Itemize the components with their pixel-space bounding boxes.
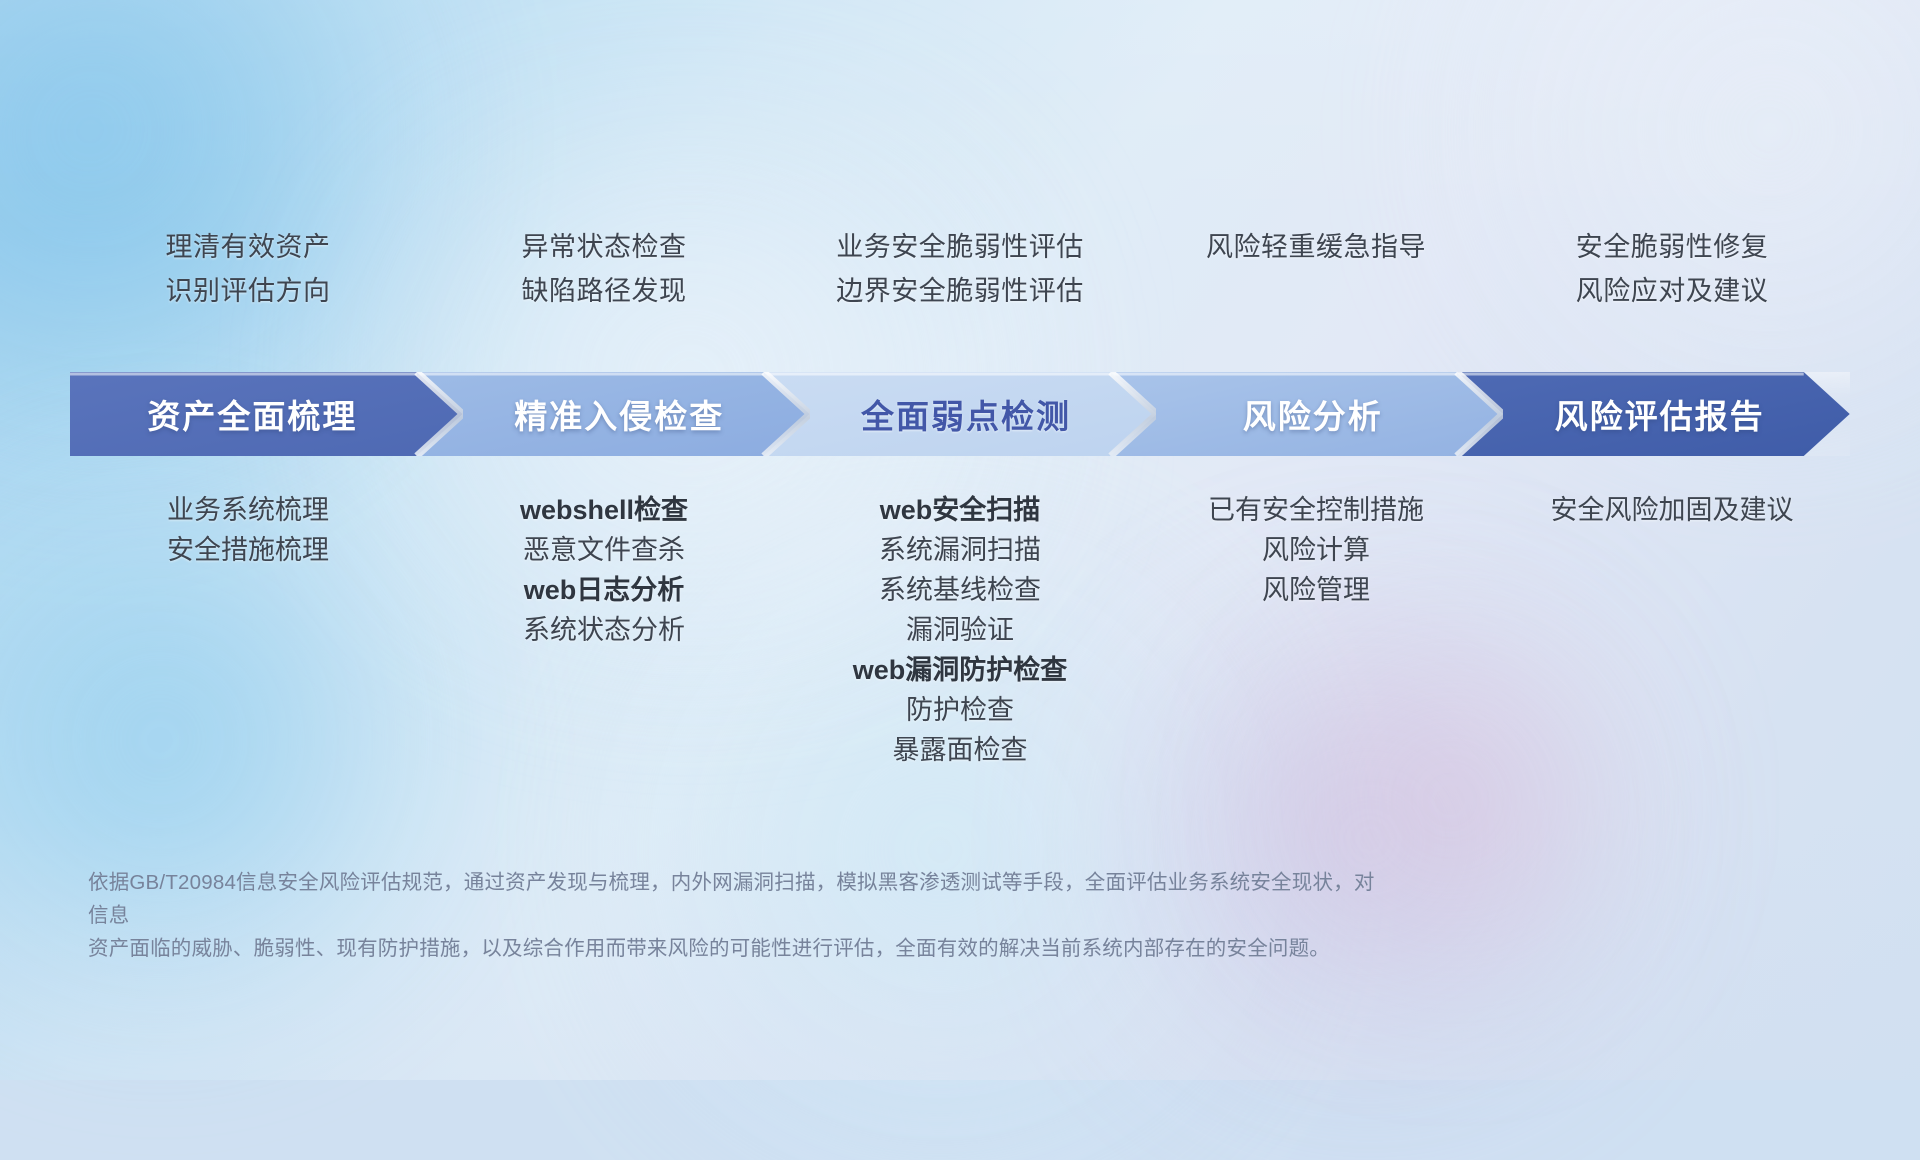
chevron-label-asset-inventory: 资产全面梳理 — [147, 390, 357, 438]
list-item: 风险计算 — [1138, 530, 1494, 570]
chevron-label-assessment-report: 风险评估报告 — [1555, 390, 1765, 438]
top-caption-intrusion-check: 异常状态检查缺陷路径发现 — [426, 225, 782, 313]
diagram-stage: 理清有效资产识别评估方向异常状态检查缺陷路径发现业务安全脆弱性评估边界安全脆弱性… — [0, 0, 1920, 1080]
chevron-stage-asset-inventory[interactable]: 资产全面梳理 — [70, 372, 463, 456]
top-captions-row: 理清有效资产识别评估方向异常状态检查缺陷路径发现业务安全脆弱性评估边界安全脆弱性… — [70, 225, 1850, 313]
bottom-list-weakness-detection: web安全扫描系统漏洞扫描系统基线检查漏洞验证web漏洞防护检查防护检查暴露面检… — [782, 490, 1138, 770]
chevron-label-intrusion-check: 精准入侵检查 — [514, 390, 724, 438]
top-caption-line: 边界安全脆弱性评估 — [782, 269, 1138, 313]
bottom-lists-row: 业务系统梳理安全措施梳理webshell检查恶意文件查杀web日志分析系统状态分… — [70, 490, 1850, 770]
footer-line-2: 资产面临的威胁、脆弱性、现有防护措施，以及综合作用而带来风险的可能性进行评估，全… — [88, 932, 1378, 965]
chevron-stage-risk-analysis[interactable]: 风险分析 — [1110, 372, 1503, 456]
top-caption-weakness-detection: 业务安全脆弱性评估边界安全脆弱性评估 — [782, 225, 1138, 313]
list-item: web日志分析 — [426, 570, 782, 610]
chevron-label-risk-analysis: 风险分析 — [1243, 390, 1383, 438]
footer-description: 依据GB/T20984信息安全风险评估规范，通过资产发现与梳理，内外网漏洞扫描，… — [88, 866, 1378, 965]
top-caption-line: 异常状态检查 — [426, 225, 782, 269]
list-item: 防护检查 — [782, 690, 1138, 730]
chevron-stage-intrusion-check[interactable]: 精准入侵检查 — [417, 372, 810, 456]
list-item: 系统基线检查 — [782, 570, 1138, 610]
chevron-stage-assessment-report[interactable]: 风险评估报告 — [1457, 372, 1850, 456]
list-item: 风险管理 — [1138, 570, 1494, 610]
top-caption-line: 风险应对及建议 — [1494, 269, 1850, 313]
top-caption-asset-inventory: 理清有效资产识别评估方向 — [70, 225, 426, 313]
list-item: web漏洞防护检查 — [782, 650, 1138, 690]
list-item: 恶意文件查杀 — [426, 530, 782, 570]
bottom-list-risk-analysis: 已有安全控制措施风险计算风险管理 — [1138, 490, 1494, 610]
top-caption-line: 理清有效资产 — [70, 225, 426, 269]
list-item: web安全扫描 — [782, 490, 1138, 530]
list-item: 系统状态分析 — [426, 610, 782, 650]
list-item: 安全风险加固及建议 — [1494, 490, 1850, 530]
list-item: 系统漏洞扫描 — [782, 530, 1138, 570]
list-item: webshell检查 — [426, 490, 782, 530]
top-caption-risk-analysis: 风险轻重缓急指导 — [1138, 225, 1494, 313]
list-item: 漏洞验证 — [782, 610, 1138, 650]
footer-line-1: 依据GB/T20984信息安全风险评估规范，通过资产发现与梳理，内外网漏洞扫描，… — [88, 866, 1378, 932]
top-caption-line: 缺陷路径发现 — [426, 269, 782, 313]
bottom-list-asset-inventory: 业务系统梳理安全措施梳理 — [70, 490, 426, 570]
bottom-list-intrusion-check: webshell检查恶意文件查杀web日志分析系统状态分析 — [426, 490, 782, 650]
bottom-list-assessment-report: 安全风险加固及建议 — [1494, 490, 1850, 530]
list-item: 业务系统梳理 — [70, 490, 426, 530]
top-caption-line: 识别评估方向 — [70, 269, 426, 313]
top-caption-assessment-report: 安全脆弱性修复风险应对及建议 — [1494, 225, 1850, 313]
list-item: 暴露面检查 — [782, 730, 1138, 770]
chevron-label-weakness-detection: 全面弱点检测 — [861, 390, 1071, 438]
process-chevron-band: 资产全面梳理精准入侵检查全面弱点检测风险分析风险评估报告 — [70, 372, 1850, 456]
list-item: 安全措施梳理 — [70, 530, 426, 570]
top-caption-line: 业务安全脆弱性评估 — [782, 225, 1138, 269]
chevron-stage-weakness-detection[interactable]: 全面弱点检测 — [764, 372, 1157, 456]
top-caption-line: 风险轻重缓急指导 — [1138, 225, 1494, 269]
top-caption-line: 安全脆弱性修复 — [1494, 225, 1850, 269]
list-item: 已有安全控制措施 — [1138, 490, 1494, 530]
